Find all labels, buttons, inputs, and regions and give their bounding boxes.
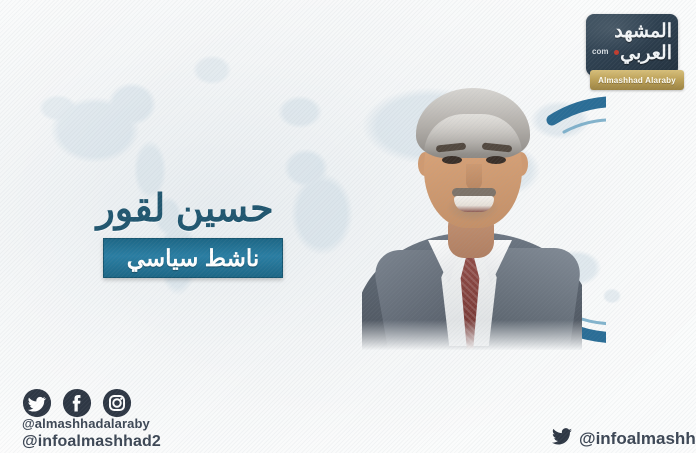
handle-secondary: @infoalmashhad2 [22,432,161,452]
social-handles: @almashhadalaraby @infoalmashhad2 [22,416,161,452]
eye-left [442,156,462,164]
logo-caption-ribbon: Almashhad Alaraby [590,70,684,90]
logo-arabic-line-2: العربي [586,44,672,63]
logo-dot-icon [614,50,619,55]
facebook-icon[interactable] [62,388,92,418]
person-illustration [362,82,582,350]
photo-bottom-fade [362,320,582,350]
twitter-icon[interactable] [22,388,52,418]
page-title: حسين لقور [80,186,290,232]
portrait-block [338,86,606,354]
logo-caption-text: Almashhad Alaraby [598,76,676,85]
eye-right [486,156,506,164]
brand-logo[interactable]: المشهد العربي com Almashhad Alaraby [586,14,686,98]
handle-primary: @almashhadalaraby [22,416,161,432]
nose [466,164,482,190]
logo-card: المشهد العربي com [586,14,678,76]
graphic-card: حسين لقور ناشط سياسي المشهد العربي com A… [0,0,700,459]
mouth [454,196,494,212]
status-badge: ناشط سياسي [103,238,283,278]
corner-twitter-handle: @infoalmashhad2 [552,428,700,450]
corner-handle-text: @infoalmashhad2 [579,429,700,449]
logo-arabic-line-1: المشهد [586,22,672,41]
social-icon-row [22,388,132,418]
hair [416,88,530,158]
logo-com-text: com [592,48,608,56]
status-badge-label: ناشط سياسي [127,245,260,272]
instagram-icon[interactable] [102,388,132,418]
corner-twitter-icon [552,428,572,450]
portrait-photo [362,82,582,350]
